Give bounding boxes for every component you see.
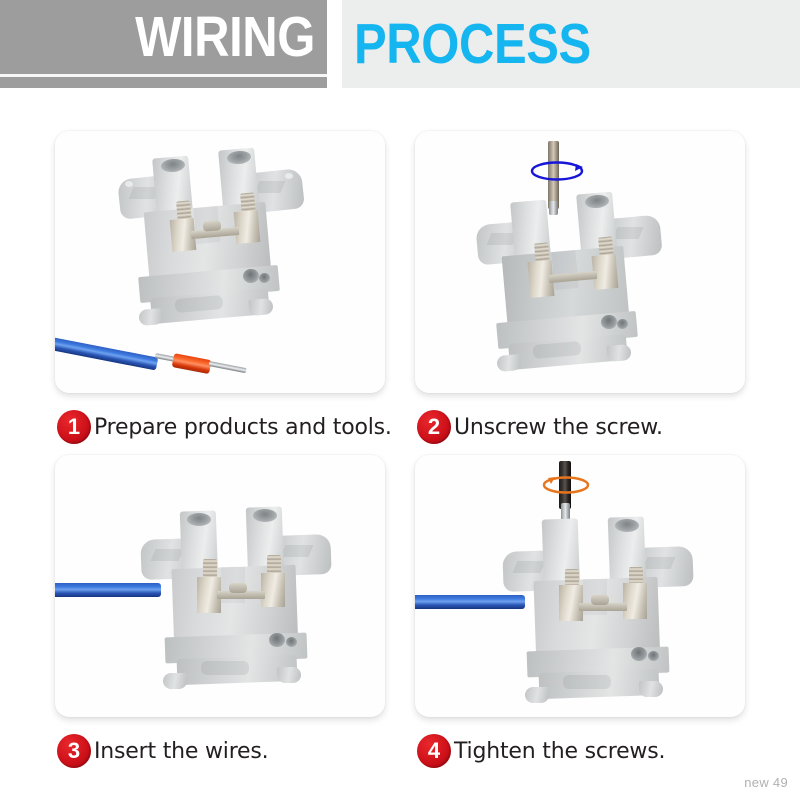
step-1-photo-inner [55, 131, 385, 393]
foot-right-clip [606, 344, 631, 362]
bus-bar-center [229, 583, 247, 593]
foot-right-clip [639, 681, 663, 697]
step-card-1: 1 Prepare products and tools. [55, 131, 395, 449]
foot-left-clip [163, 673, 187, 689]
step-4-badge: 4 [417, 734, 451, 768]
rotation-arrow-blue-icon [528, 158, 586, 184]
terminal-block-1 [117, 145, 317, 345]
right-wing-groove [613, 227, 644, 239]
left-wing-groove [513, 561, 546, 573]
watermark-text: new 49 [744, 775, 788, 790]
foot-cutout [201, 661, 249, 675]
step-2-caption-row: 2 Unscrew the screw. [417, 407, 663, 447]
step-2-badge: 2 [417, 410, 451, 444]
right-screw-hole [615, 519, 639, 532]
step-3-photo-inner [55, 455, 385, 717]
step-4-caption: Tighten the screws. [454, 739, 665, 764]
mount-hole-small [648, 651, 659, 661]
page-header: WIRING PROCESS [0, 0, 800, 90]
right-clamp [623, 583, 647, 619]
terminal-block-2 [475, 191, 675, 391]
right-wing-groove [255, 181, 286, 193]
step-3-badge: 3 [57, 734, 91, 768]
right-clamp [261, 573, 285, 607]
step-2-photo [415, 131, 745, 393]
step-4-caption-row: 4 Tighten the screws. [417, 731, 665, 771]
step-1-photo [55, 131, 385, 393]
body-center-shadow [551, 250, 578, 290]
mount-hole-large [631, 647, 647, 661]
header-left-rule [0, 74, 327, 77]
step-3-caption-row: 3 Insert the wires. [57, 731, 268, 771]
bus-bar-center [591, 595, 609, 605]
step-card-2: 2 Unscrew the screw. [415, 131, 755, 449]
left-wing-groove [151, 549, 184, 561]
terminal-block-3 [141, 487, 347, 697]
mount-hole-large [269, 633, 285, 647]
step-2-photo-inner [415, 131, 745, 393]
left-wing-highlight [125, 181, 133, 187]
foot-right-clip [277, 667, 301, 683]
header-right-block: PROCESS [342, 0, 800, 88]
step-card-4: 4 Tighten the screws. [415, 455, 755, 773]
step-3-photo [55, 455, 385, 717]
rotation-arrow-orange-icon [540, 473, 592, 497]
foot-left-clip [525, 687, 549, 703]
step-card-3: 3 Insert the wires. [55, 455, 395, 773]
foot-right-clip [248, 298, 273, 316]
step-3-caption: Insert the wires. [94, 739, 268, 764]
right-wing-highlight [285, 173, 293, 179]
header-right-title: PROCESS [342, 0, 736, 88]
terminal-block-4 [503, 499, 709, 709]
right-wing-groove [643, 557, 676, 569]
ferrule-pin [209, 361, 247, 373]
right-screw-hole [253, 509, 277, 522]
left-screw-hole [187, 513, 211, 526]
step-2-caption: Unscrew the screw. [454, 415, 663, 440]
foot-cutout [563, 675, 611, 689]
steps-grid: 1 Prepare products and tools. [0, 118, 800, 788]
bus-bar-center [203, 220, 222, 232]
step-4-photo-inner [415, 455, 745, 717]
red-ferrule [172, 353, 212, 374]
mount-hole-small [286, 637, 297, 647]
step-4-photo [415, 455, 745, 717]
step-1-caption: Prepare products and tools. [94, 415, 392, 440]
header-left-title: WIRING [46, 0, 327, 74]
step-1-badge: 1 [57, 410, 91, 444]
step-1-caption-row: 1 Prepare products and tools. [57, 407, 392, 447]
header-left-block: WIRING [0, 0, 327, 88]
right-wing-groove [281, 545, 314, 557]
